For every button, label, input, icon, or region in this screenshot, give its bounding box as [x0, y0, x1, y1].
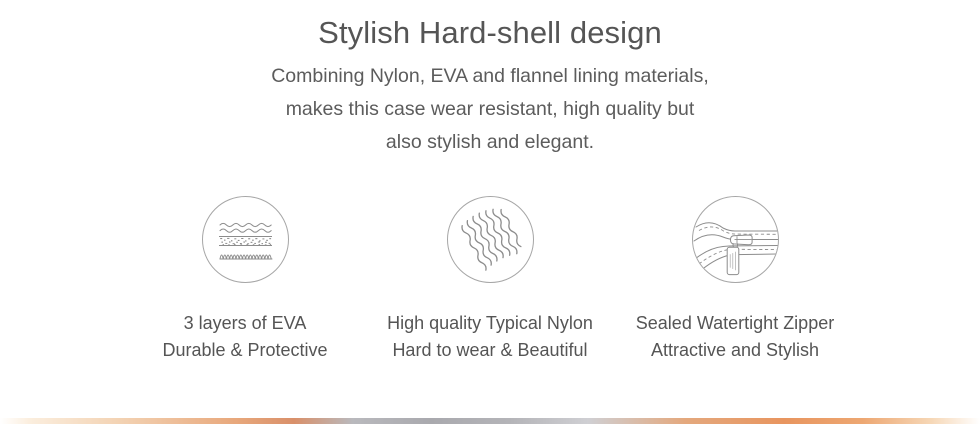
feature-caption: 3 layers of EVA Durable & Protective [162, 283, 327, 364]
subtitle-line-3: also stylish and elegant. [0, 126, 980, 159]
subtitle-block: Combining Nylon, EVA and flannel lining … [0, 53, 980, 159]
feature-row: 3 layers of EVA Durable & Protective [0, 196, 980, 364]
nylon-weave-icon [447, 196, 534, 283]
product-feature-panel: Stylish Hard-shell design Combining Nylo… [0, 0, 980, 424]
feature-caption-line-2: Attractive and Stylish [636, 337, 834, 364]
sealed-zipper-icon [692, 196, 779, 283]
feature-caption-line-1: 3 layers of EVA [162, 310, 327, 337]
feature-caption: High quality Typical Nylon Hard to wear … [387, 283, 593, 364]
feature-caption-line-2: Durable & Protective [162, 337, 327, 364]
subtitle-line-1: Combining Nylon, EVA and flannel lining … [0, 60, 980, 93]
feature-item-nylon: High quality Typical Nylon Hard to wear … [368, 196, 613, 364]
feature-caption-line-1: High quality Typical Nylon [387, 310, 593, 337]
feature-caption-line-2: Hard to wear & Beautiful [387, 337, 593, 364]
eva-layers-icon [202, 196, 289, 283]
feature-caption-line-1: Sealed Watertight Zipper [636, 310, 834, 337]
subtitle-line-2: makes this case wear resistant, high qua… [0, 93, 980, 126]
page-title: Stylish Hard-shell design [0, 0, 980, 53]
feature-item-zipper: Sealed Watertight Zipper Attractive and … [613, 196, 858, 364]
feature-item-eva-layers: 3 layers of EVA Durable & Protective [123, 196, 368, 364]
header-block: Stylish Hard-shell design Combining Nylo… [0, 0, 980, 159]
next-section-image-edge [0, 418, 980, 424]
feature-caption: Sealed Watertight Zipper Attractive and … [636, 283, 834, 364]
